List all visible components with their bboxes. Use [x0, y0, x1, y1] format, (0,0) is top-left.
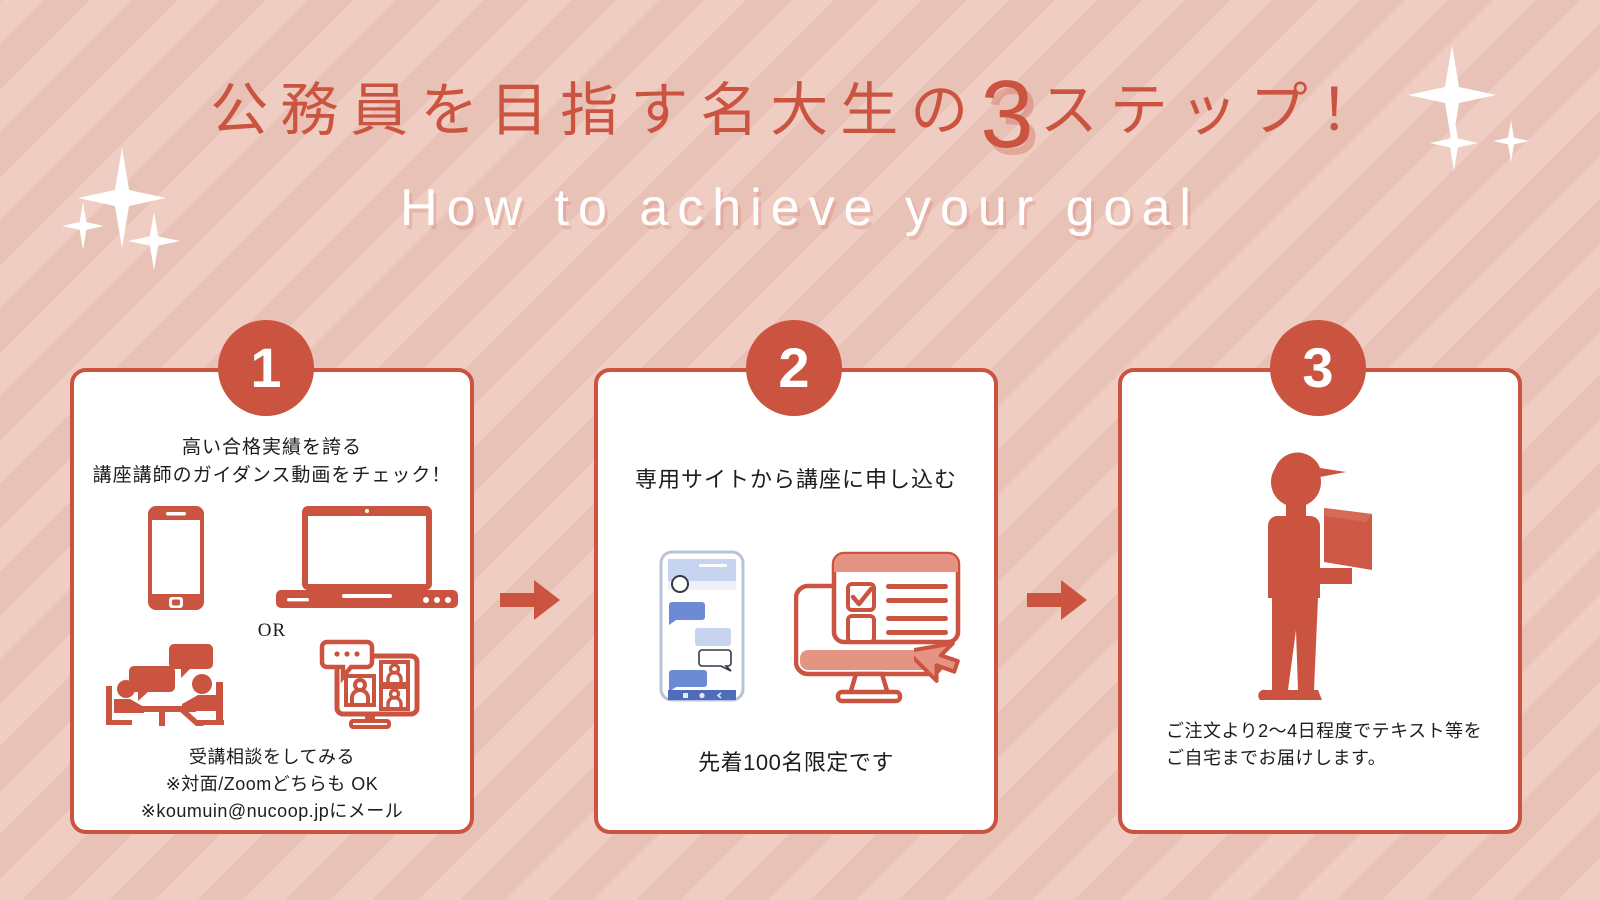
- chat-phone-icon: [659, 550, 745, 707]
- mouse-cursor-icon: [914, 626, 970, 689]
- step-3-badge: 3: [1270, 320, 1366, 416]
- video-conference-icon: [319, 638, 423, 735]
- step-1-footnote: 受講相談をしてみる ※対面/Zoomどちらも OK ※koumuin@nucoo…: [74, 744, 470, 825]
- smartphone-icon: [147, 505, 205, 616]
- step-2-headline: 専用サイトから講座に申し込む: [598, 464, 994, 496]
- step-1-headline: 高い合格実績を誇る 講座講師のガイダンス動画をチェック！: [74, 434, 470, 489]
- page-subtitle: How to achieve your goal: [0, 178, 1600, 238]
- page-title-prefix: 公務員を目指す名大生の: [210, 82, 980, 140]
- page-title: 公務員を目指す名大生の 3 ステップ！: [0, 70, 1600, 152]
- step-2-footnote: 先着100名限定です: [598, 746, 994, 779]
- arrow-step2-to-step3-icon: [1027, 578, 1089, 622]
- poster-canvas: 公務員を目指す名大生の 3 ステップ！ How to achieve your …: [0, 0, 1600, 900]
- page-title-step-count: 3: [980, 74, 1033, 156]
- page-title-suffix: ステップ！: [1040, 82, 1390, 140]
- step-1-badge: 1: [218, 320, 314, 416]
- step-card-3: ご注文より2〜4日程度でテキスト等を ご自宅までお届けします。: [1118, 368, 1522, 834]
- step-2-badge-number: 2: [778, 340, 809, 396]
- step-3-badge-number: 3: [1302, 340, 1333, 396]
- step-2-badge: 2: [746, 320, 842, 416]
- step-card-1: 高い合格実績を誇る 講座講師のガイダンス動画をチェック！: [70, 368, 474, 834]
- delivery-person-icon: [1248, 450, 1398, 715]
- poster-heading: 公務員を目指す名大生の 3 ステップ！ How to achieve your …: [0, 70, 1600, 238]
- arrow-step1-to-step2-icon: [500, 578, 562, 622]
- step-3-footnote: ご注文より2〜4日程度でテキスト等を ご自宅までお届けします。: [1122, 718, 1518, 772]
- meeting-consultation-icon: [104, 642, 226, 731]
- step-1-badge-number: 1: [250, 340, 281, 396]
- step-card-2: 専用サイトから講座に申し込む: [594, 368, 998, 834]
- laptop-icon: [274, 504, 460, 617]
